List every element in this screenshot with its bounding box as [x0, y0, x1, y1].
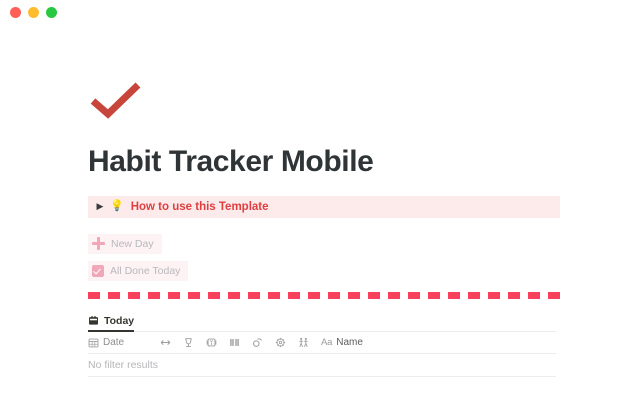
page-title: Habit Tracker Mobile [88, 145, 560, 180]
column-header-prop-3[interactable] [200, 337, 223, 348]
tooth-icon [206, 337, 217, 348]
new-day-label: New Day [111, 238, 154, 250]
traffic-light-buttons [10, 7, 57, 18]
empty-state-label: No filter results [88, 359, 158, 371]
column-header-name[interactable]: Aa Name [321, 337, 363, 348]
column-header-name-label: Name [336, 337, 363, 348]
page-content: Habit Tracker Mobile ▶ 💡 How to use this… [88, 24, 560, 377]
calendar-icon [88, 315, 99, 326]
page-canvas: Habit Tracker Mobile ▶ 💡 How to use this… [0, 24, 640, 400]
toggle-arrow-icon[interactable]: ▶ [94, 202, 106, 211]
wine-glass-icon [183, 337, 194, 348]
checkbox-icon [92, 265, 104, 277]
column-header-date-label: Date [103, 337, 124, 348]
column-header-prop-5[interactable] [246, 337, 269, 348]
dashed-divider [88, 292, 560, 299]
new-day-button[interactable]: New Day [88, 234, 162, 254]
plus-icon [92, 237, 105, 250]
red-check-icon [88, 80, 144, 120]
all-done-today-button[interactable]: All Done Today [88, 261, 188, 281]
database-tabs: Today [88, 311, 556, 332]
close-button[interactable] [10, 7, 21, 18]
book-open-icon [229, 337, 240, 348]
column-header-date[interactable]: Date [88, 337, 154, 348]
snowflake-icon [275, 337, 286, 348]
calendar-grid-icon [88, 337, 99, 348]
tab-today[interactable]: Today [88, 315, 134, 332]
magnifier-icon [252, 337, 263, 348]
maximize-button[interactable] [46, 7, 57, 18]
column-header-prop-2[interactable] [177, 337, 200, 348]
action-buttons: New Day All Done Today [88, 234, 560, 288]
all-done-today-label: All Done Today [110, 265, 180, 277]
column-header-prop-6[interactable] [269, 337, 292, 348]
how-to-use-label: How to use this Template [131, 201, 269, 213]
people-icon [298, 337, 309, 348]
column-header-prop-4[interactable] [223, 337, 246, 348]
window-titlebar [0, 0, 640, 24]
column-header-prop-1[interactable] [154, 337, 177, 348]
empty-state-row: No filter results [88, 354, 556, 377]
lightbulb-icon: 💡 [110, 201, 124, 212]
text-aa-icon: Aa [321, 337, 332, 348]
table-header-row: Date [88, 332, 556, 354]
database-view: Today Date [88, 311, 556, 377]
arrows-horizontal-icon [160, 337, 171, 348]
column-header-prop-7[interactable] [292, 337, 315, 348]
how-to-use-toggle[interactable]: ▶ 💡 How to use this Template [88, 196, 560, 218]
tab-today-label: Today [104, 315, 134, 327]
minimize-button[interactable] [28, 7, 39, 18]
